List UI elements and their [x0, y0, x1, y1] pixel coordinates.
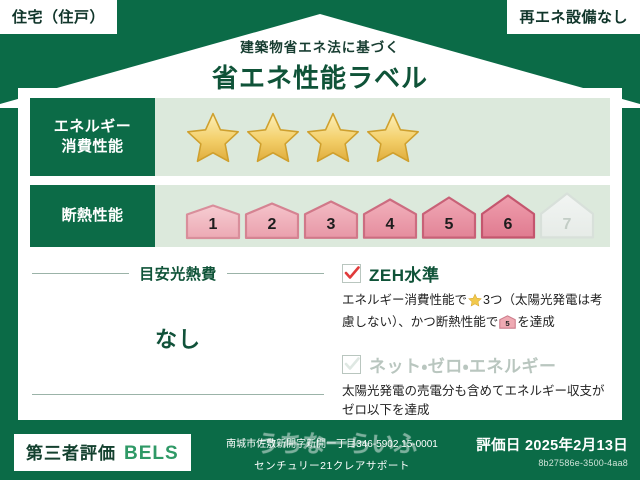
criteria-column: ZEH水準 エネルギー消費性能で3つ（太陽光発電は考慮しない）、かつ断熱性能で5…: [324, 259, 608, 409]
insulation-performance-body: 1234567: [155, 185, 610, 247]
insulation-level-1: 1: [185, 204, 241, 240]
title-subtitle: 建築物省エネ法に基づく: [0, 36, 640, 56]
energy-label-line1: エネルギー: [54, 117, 132, 137]
bels-badge: 第三者評価 BELS: [14, 434, 191, 471]
utility-cost-bottom-rule: [32, 394, 324, 395]
insulation-level-3: 3: [303, 200, 359, 240]
company-name: センチュリー21クレアサポート: [212, 458, 452, 473]
energy-label-line2: 消費性能: [61, 137, 123, 157]
renewable-equipment-tag: 再エネ設備なし: [507, 0, 640, 34]
evaluation-id: 8b27586e-3500-4aa8: [476, 458, 628, 468]
heading-rule-right: [227, 273, 324, 274]
bels-japanese-label: 第三者評価: [26, 439, 116, 464]
heading-rule-left: [32, 273, 129, 274]
inline-house-badge-icon: 5: [499, 318, 516, 332]
energy-performance-row: エネルギー 消費性能: [30, 98, 610, 176]
zeh-title: ZEH水準: [369, 261, 440, 286]
star-3: [305, 110, 361, 164]
housing-type-tag: 住宅（住戸）: [0, 0, 117, 34]
utility-cost-heading: 目安光熱費: [32, 263, 324, 284]
nze-checkbox-unchecked-icon: [342, 355, 361, 374]
title-main: 省エネ性能ラベル: [0, 58, 640, 95]
footer: 第三者評価 BELS 南城市佐敷新開字新開一丁目346-5902 15-0001…: [0, 428, 640, 480]
property-address: 南城市佐敷新開字新開一丁目346-5902 15-0001: [212, 435, 452, 450]
footer-center: 南城市佐敷新開字新開一丁目346-5902 15-0001 センチュリー21クレ…: [212, 435, 452, 473]
utility-cost-value: なし: [155, 322, 201, 354]
net-zero-energy-criterion: ネット・ゼロ・エネルギー 太陽光発電の売電分も含めてエネルギー収支がゼロ以下を達…: [342, 352, 608, 421]
nze-header: ネット・ゼロ・エネルギー: [342, 352, 608, 377]
evaluation-date-value: 2025年2月13日: [525, 438, 628, 454]
insulation-level-5: 5: [421, 196, 477, 240]
insulation-label-text: 断熱性能: [61, 206, 123, 226]
label-title: 建築物省エネ法に基づく 省エネ性能ラベル: [0, 36, 640, 95]
insulation-performance-label: 断熱性能: [30, 185, 155, 247]
utility-cost-column: 目安光熱費 なし: [32, 259, 324, 409]
insulation-scale: 1234567: [185, 192, 595, 239]
zeh-criterion: ZEH水準 エネルギー消費性能で3つ（太陽光発電は考慮しない）、かつ断熱性能で5…: [342, 261, 608, 336]
star-1: [185, 110, 241, 164]
insulation-level-6: 6: [480, 194, 536, 240]
zeh-checkbox-checked-icon: [342, 264, 361, 283]
inline-star-icon: [468, 296, 482, 310]
energy-performance-body: [155, 98, 610, 176]
star-2: [245, 110, 301, 164]
zeh-header: ZEH水準: [342, 261, 608, 286]
star-rating: [185, 110, 421, 164]
nze-title: ネット・ゼロ・エネルギー: [369, 352, 557, 377]
footer-right: 評価日 2025年2月13日 8b27586e-3500-4aa8: [476, 434, 628, 468]
zeh-desc-stars: 3つ: [483, 293, 502, 307]
zeh-description: エネルギー消費性能で3つ（太陽光発電は考慮しない）、かつ断熱性能で5を達成: [342, 291, 608, 336]
evaluation-date-label: 評価日: [476, 438, 520, 454]
insulation-level-4: 4: [362, 198, 418, 240]
zeh-desc-part3: を達成: [517, 315, 555, 329]
bels-logo-text: BELS: [124, 443, 179, 465]
insulation-performance-row: 断熱性能 1234567: [30, 185, 610, 247]
nze-description: 太陽光発電の売電分も含めてエネルギー収支がゼロ以下を達成: [342, 382, 608, 421]
utility-cost-heading-text: 目安光熱費: [129, 263, 227, 284]
insulation-level-7: 7: [539, 192, 595, 239]
insulation-level-2: 2: [244, 202, 300, 240]
star-4: [365, 110, 421, 164]
energy-performance-label: エネルギー 消費性能: [30, 98, 155, 176]
main-panel: エネルギー 消費性能 断熱性能 1234567 目安光熱費 なし: [18, 88, 622, 420]
lower-section: 目安光熱費 なし ZEH水準 エネルギー消費性能で3つ（太陽光発電は考: [32, 259, 608, 409]
evaluation-date: 評価日 2025年2月13日: [476, 434, 628, 455]
svg-text:5: 5: [506, 320, 511, 329]
zeh-desc-part1: エネルギー消費性能で: [342, 293, 467, 307]
